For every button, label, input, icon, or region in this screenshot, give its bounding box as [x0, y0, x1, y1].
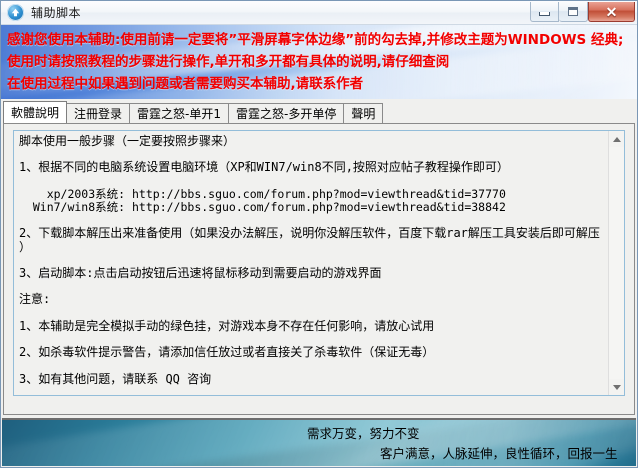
tab-register-login[interactable]: 注冊登录 [66, 103, 130, 123]
tab-statement[interactable]: 聲明 [343, 103, 383, 123]
window-title: 辅助脚本 [31, 4, 81, 21]
instructions-line [19, 175, 602, 188]
minimize-icon [539, 12, 550, 16]
instructions-line: xp/2003系统: http://bbs.sguo.com/forum.php… [19, 188, 602, 201]
instructions-line: 1、根据不同的电脑系统设置电脑环境（XP和WIN7/win8不同,按照对应帖子教… [19, 161, 602, 174]
tab-label: 軟體說明 [11, 104, 59, 121]
application-window: 辅助脚本 ✕ 感谢您使用本辅助:使用前请一定要将”平滑屏幕字体边缘”前的勾去掉,… [0, 0, 638, 468]
instructions-line [19, 280, 602, 293]
header-banner: 感谢您使用本辅助:使用前请一定要将”平滑屏幕字体边缘”前的勾去掉,并修改主题为W… [1, 25, 637, 99]
instructions-line: 2、如杀毒软件提示警告，请添加信任放过或者直接关了杀毒软件（保证无毒） [19, 346, 602, 359]
vertical-scrollbar[interactable] [608, 131, 624, 395]
tab-label: 聲明 [351, 105, 375, 122]
scrollbar-track[interactable] [609, 147, 625, 379]
footer-slogan-line-1: 需求万变，努力不变 [2, 424, 636, 444]
instructions-text-content: 脚本使用一般步骤（一定要按照步骤来）1、根据不同的电脑系统设置电脑环境（XP和W… [14, 131, 608, 395]
chevron-down-icon [613, 385, 621, 390]
maximize-button[interactable] [559, 2, 588, 22]
chevron-up-icon [613, 137, 621, 142]
instructions-line: 注意: [19, 293, 602, 306]
maximize-icon [568, 7, 578, 16]
instructions-line [19, 359, 602, 372]
tab-label: 注冊登录 [74, 105, 122, 122]
instructions-line: Win7/win8系统: http://bbs.sguo.com/forum.p… [19, 201, 602, 214]
close-button[interactable]: ✕ [588, 2, 635, 22]
window-controls: ✕ [530, 2, 635, 23]
footer-banner-text: 需求万变，努力不变 客户满意，人脉延伸，良性循环，回报一生 [2, 420, 636, 464]
tab-leiting-single-1[interactable]: 雷霆之怒-单开1 [129, 103, 229, 123]
header-banner-line-1: 感谢您使用本辅助:使用前请一定要将”平滑屏幕字体边缘”前的勾去掉,并修改主题为W… [7, 29, 637, 51]
instructions-line: ） [19, 241, 602, 254]
tab-content-panel: 脚本使用一般步骤（一定要按照步骤来）1、根据不同的电脑系统设置电脑环境（XP和W… [3, 123, 635, 415]
minimize-button[interactable] [530, 2, 559, 22]
footer-banner: 需求万变，努力不变 客户满意，人脉延伸，良性循环，回报一生 [2, 418, 636, 466]
tab-leiting-multi-stop[interactable]: 雷霆之怒-多开单停 [228, 103, 344, 123]
instructions-line [19, 254, 602, 267]
app-logo-icon [7, 4, 24, 21]
close-icon: ✕ [606, 5, 618, 19]
instructions-line: 3、启动脚本:点击启动按钮后迅速将鼠标移动到需要启动的游戏界面 [19, 267, 602, 280]
title-bar: 辅助脚本 ✕ [1, 1, 637, 25]
tab-label: 雷霆之怒-多开单停 [236, 105, 336, 122]
header-banner-line-3: 在使用过程中如果遇到问题或者需要购买本辅助,请联系作者 [7, 73, 637, 95]
tab-software-instructions[interactable]: 軟體說明 [3, 101, 67, 123]
header-banner-text: 感谢您使用本辅助:使用前请一定要将”平滑屏幕字体边缘”前的勾去掉,并修改主题为W… [1, 25, 637, 95]
footer-slogan-line-2: 客户满意，人脉延伸，良性循环，回报一生 [2, 444, 636, 464]
header-banner-line-2: 使用时请按照教程的步骤进行操作,单开和多开都有具体的说明,请仔细查阅 [7, 51, 637, 73]
tab-strip: 軟體說明 注冊登录 雷霆之怒-单开1 雷霆之怒-多开单停 聲明 [3, 101, 637, 123]
scroll-down-button[interactable] [609, 379, 625, 395]
instructions-line: 1、本辅助是完全模拟手动的绿色挂，对游戏本身不存在任何影响，请放心试用 [19, 320, 602, 333]
instructions-line: 3、如有其他问题，请联系 QQ 咨询 [19, 373, 602, 386]
instructions-textbox[interactable]: 脚本使用一般步骤（一定要按照步骤来）1、根据不同的电脑系统设置电脑环境（XP和W… [13, 130, 625, 396]
instructions-line: 2、下载脚本解压出来准备使用（如果没办法解压，说明你没解压软件，百度下载rar解… [19, 227, 602, 240]
instructions-line: 脚本使用一般步骤（一定要按照步骤来） [19, 135, 602, 148]
tab-label: 雷霆之怒-单开1 [137, 105, 221, 122]
instructions-line [19, 307, 602, 320]
scroll-up-button[interactable] [609, 131, 625, 147]
